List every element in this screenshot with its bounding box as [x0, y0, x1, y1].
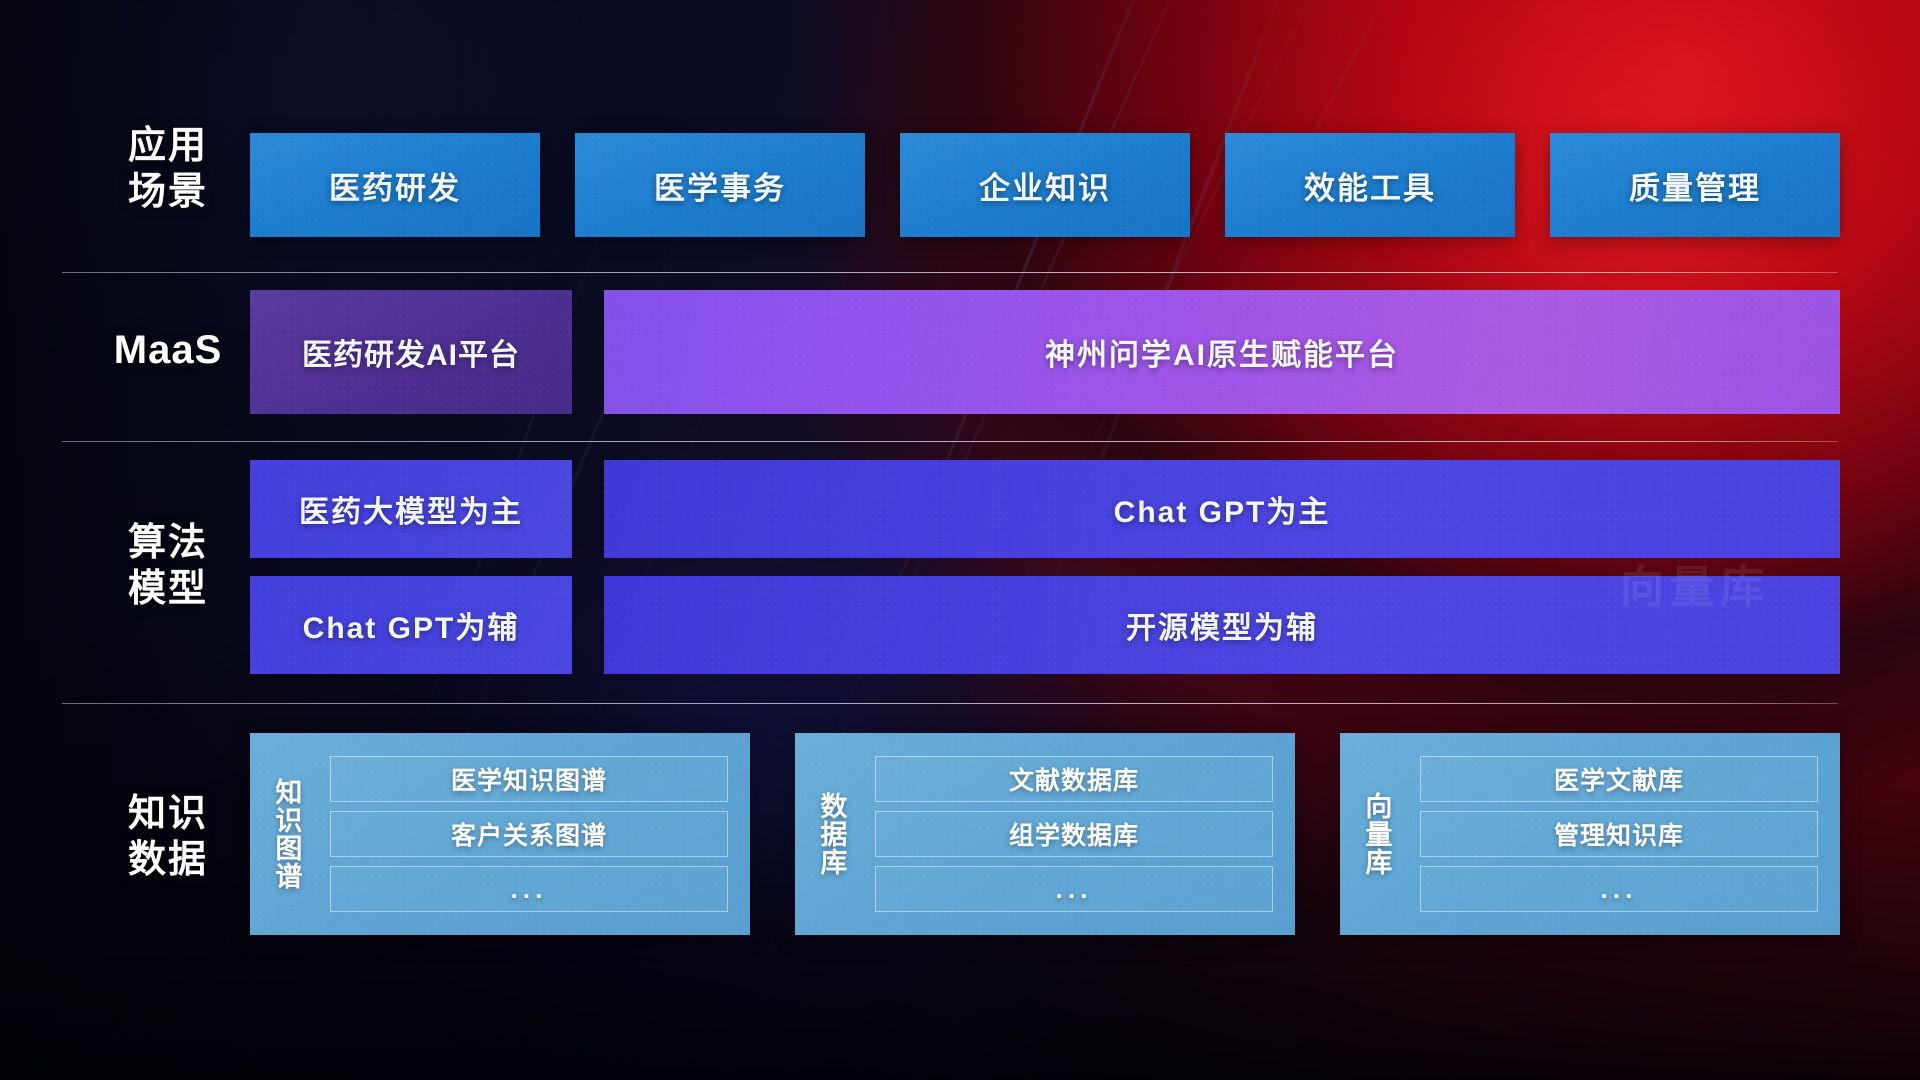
divider-3 [62, 703, 1838, 704]
knowledge-panel-vector-store-items: 医学文献库 管理知识库 ... [1412, 733, 1840, 935]
knowledge-panel-knowledge-graph-items: 医学知识图谱 客户关系图谱 ... [322, 733, 750, 935]
knowledge-item-literature-database[interactable]: 文献数据库 [875, 756, 1273, 802]
algo-card-chatgpt-primary-label: Chat GPT为主 [1114, 487, 1331, 531]
maas-card-shenzhou-wenxue-platform-label: 神州问学AI原生赋能平台 [1045, 330, 1399, 374]
knowledge-item-omics-database[interactable]: 组学数据库 [875, 811, 1273, 857]
knowledge-item-more-db[interactable]: ... [875, 866, 1273, 912]
knowledge-item-management-knowledge-base[interactable]: 管理知识库 [1420, 811, 1818, 857]
maas-card-drug-rd-ai-platform[interactable]: 医药研发AI平台 [250, 290, 572, 414]
row-label-application-scenarios: 应用 场景 [78, 123, 258, 216]
divider-2 [62, 441, 1838, 442]
app-card-medical-affairs-label: 医学事务 [654, 163, 786, 208]
algo-card-chatgpt-secondary-label: Chat GPT为辅 [303, 603, 520, 647]
app-card-drug-rd-label: 医药研发 [329, 163, 461, 208]
knowledge-item-label: ... [511, 874, 548, 905]
row-label-maas: MaaS [78, 326, 258, 375]
knowledge-item-label: 组学数据库 [1009, 816, 1139, 852]
algo-card-opensource-secondary-label: 开源模型为辅 [1126, 603, 1318, 647]
knowledge-item-label: ... [1056, 874, 1093, 905]
algo-card-pharma-llm-primary[interactable]: 医药大模型为主 [250, 460, 572, 558]
knowledge-item-label: 文献数据库 [1009, 761, 1139, 797]
app-card-quality-management[interactable]: 质量管理 [1550, 133, 1840, 237]
knowledge-item-more-vector[interactable]: ... [1420, 866, 1818, 912]
knowledge-item-label: ... [1601, 874, 1638, 905]
architecture-diagram: 应用 场景 医药研发 医学事务 企业知识 效能工具 质量管理 MaaS 医药研发… [0, 0, 1920, 1080]
algo-card-chatgpt-secondary[interactable]: Chat GPT为辅 [250, 576, 572, 674]
algo-card-opensource-secondary[interactable]: 开源模型为辅 [604, 576, 1840, 674]
knowledge-panel-knowledge-graph[interactable]: 知识图谱 医学知识图谱 客户关系图谱 ... [250, 733, 750, 935]
maas-card-shenzhou-wenxue-platform[interactable]: 神州问学AI原生赋能平台 [604, 290, 1840, 414]
knowledge-panel-database-title: 数据库 [795, 733, 867, 935]
knowledge-panel-knowledge-graph-title: 知识图谱 [250, 733, 322, 935]
knowledge-item-label: 医学文献库 [1554, 761, 1684, 797]
row-label-knowledge-data: 知识 数据 [78, 791, 258, 884]
knowledge-item-customer-relation-graph[interactable]: 客户关系图谱 [330, 811, 728, 857]
knowledge-item-label: 医学知识图谱 [451, 761, 607, 797]
knowledge-panel-database[interactable]: 数据库 文献数据库 组学数据库 ... [795, 733, 1295, 935]
app-card-drug-rd[interactable]: 医药研发 [250, 133, 540, 237]
app-card-efficiency-tools-label: 效能工具 [1304, 163, 1436, 208]
divider-1 [62, 272, 1838, 273]
knowledge-item-medical-literature-store[interactable]: 医学文献库 [1420, 756, 1818, 802]
app-card-enterprise-knowledge[interactable]: 企业知识 [900, 133, 1190, 237]
app-card-medical-affairs[interactable]: 医学事务 [575, 133, 865, 237]
maas-card-drug-rd-ai-platform-label: 医药研发AI平台 [302, 330, 520, 374]
knowledge-item-medical-knowledge-graph[interactable]: 医学知识图谱 [330, 756, 728, 802]
knowledge-panel-vector-store[interactable]: 向量库 医学文献库 管理知识库 ... [1340, 733, 1840, 935]
row-label-algorithm-models: 算法 模型 [78, 520, 258, 613]
knowledge-panel-database-items: 文献数据库 组学数据库 ... [867, 733, 1295, 935]
knowledge-item-label: 客户关系图谱 [451, 816, 607, 852]
knowledge-item-label: 管理知识库 [1554, 816, 1684, 852]
knowledge-panel-vector-store-title: 向量库 [1340, 733, 1412, 935]
knowledge-item-more-kg[interactable]: ... [330, 866, 728, 912]
algo-card-pharma-llm-primary-label: 医药大模型为主 [299, 487, 523, 531]
app-card-quality-management-label: 质量管理 [1629, 163, 1761, 208]
app-card-enterprise-knowledge-label: 企业知识 [979, 163, 1111, 208]
algo-card-chatgpt-primary[interactable]: Chat GPT为主 [604, 460, 1840, 558]
app-card-efficiency-tools[interactable]: 效能工具 [1225, 133, 1515, 237]
